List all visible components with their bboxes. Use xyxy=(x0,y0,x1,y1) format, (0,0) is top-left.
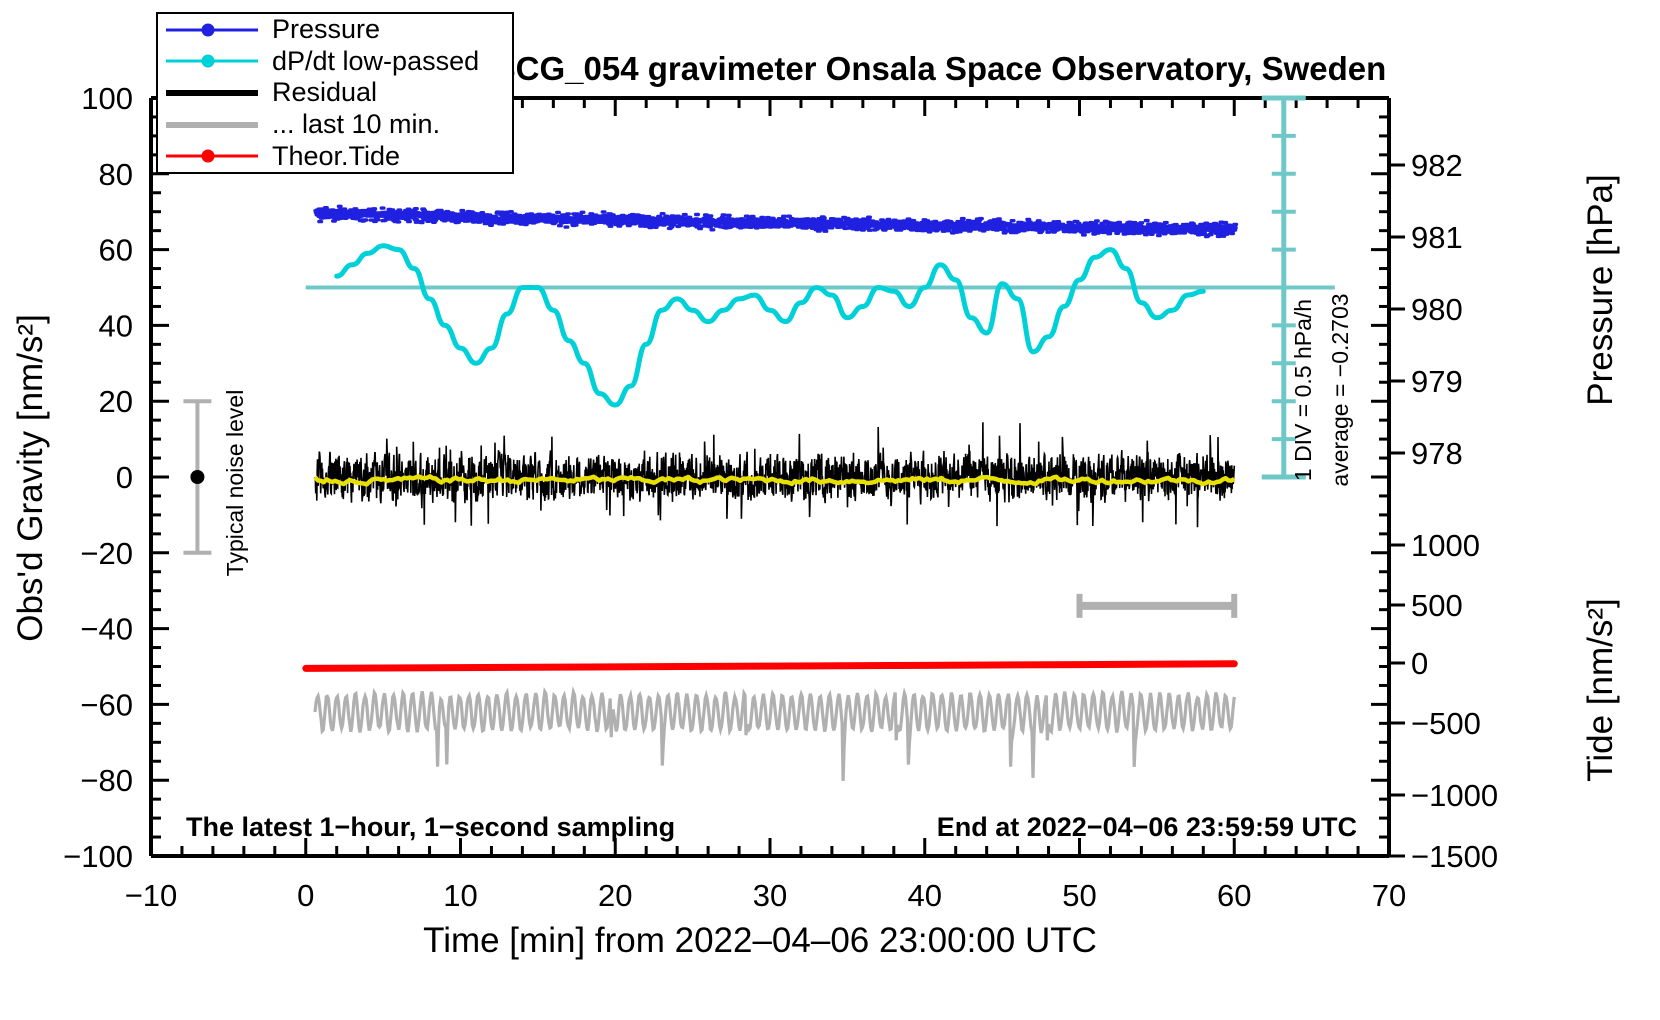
noise-level-annotation: Typical noise level xyxy=(222,390,248,577)
y-right-tide-axis-title: Tide [nm/s²] xyxy=(1581,598,1620,781)
y-left-tick-label: −60 xyxy=(80,687,133,722)
x-tick-label: 50 xyxy=(1062,878,1096,913)
noise-error-bar-center-dot xyxy=(190,470,204,484)
legend-swatch-icon xyxy=(166,22,258,38)
y-right-pressure-tick-label: 979 xyxy=(1411,364,1463,399)
y-left-tick-label: 100 xyxy=(81,81,133,116)
x-tick-label: 70 xyxy=(1372,878,1406,913)
y-right-tide-tick-label: −1500 xyxy=(1411,839,1498,874)
legend-item[interactable]: dP/dt low-passed xyxy=(158,46,512,78)
y-left-tick-label: 40 xyxy=(99,308,133,343)
legend-item-label: ... last 10 min. xyxy=(258,109,440,140)
y-right-tide-tick-label: 1000 xyxy=(1411,528,1480,563)
legend-swatch-icon xyxy=(166,53,258,69)
y-right-pressure-tick-label: 982 xyxy=(1411,148,1463,183)
y-left-tick-label: −80 xyxy=(80,763,133,798)
x-tick-label: 0 xyxy=(297,878,314,913)
y-right-pressure-tick-label: 978 xyxy=(1411,436,1463,471)
x-tick-label: 40 xyxy=(908,878,942,913)
legend-item[interactable]: Pressure xyxy=(158,14,512,46)
y-right-tide-tick-label: −1000 xyxy=(1411,778,1498,813)
legend-swatch-icon xyxy=(166,85,258,101)
legend-item-label: Theor.Tide xyxy=(258,141,400,172)
y-right-pressure-tick-label: 980 xyxy=(1411,292,1463,327)
y-left-tick-label: 80 xyxy=(99,157,133,192)
x-tick-label: 10 xyxy=(443,878,477,913)
chart-title: SCG_054 gravimeter Onsala Space Observat… xyxy=(494,50,1387,87)
y-left-tick-label: −20 xyxy=(80,536,133,571)
legend-item-label: dP/dt low-passed xyxy=(258,46,479,77)
y-left-tick-label: 20 xyxy=(99,384,133,419)
y-left-tick-label: 0 xyxy=(116,460,133,495)
x-tick-label: −10 xyxy=(125,878,178,913)
legend: PressuredP/dt low-passedResidual... last… xyxy=(156,12,514,174)
legend-item[interactable]: ... last 10 min. xyxy=(158,109,512,141)
average-annotation: average = −0.2703 xyxy=(1327,293,1353,486)
legend-item-label: Residual xyxy=(258,77,377,108)
div-scale-annotation: 1 DIV = 0.5 hPa/h xyxy=(1290,299,1316,481)
chart-root: −10010203040506070100806040200−20−40−60−… xyxy=(0,0,1660,1020)
y-left-tick-label: −40 xyxy=(80,612,133,647)
y-right-pressure-tick-label: 981 xyxy=(1411,220,1463,255)
theor-tide-series xyxy=(306,664,1235,669)
y-right-tide-tick-label: 0 xyxy=(1411,646,1428,681)
y-right-tide-tick-label: 500 xyxy=(1411,588,1463,623)
y-right-pressure-axis-title: Pressure [hPa] xyxy=(1581,174,1620,406)
y-right-tide-tick-label: −500 xyxy=(1411,706,1481,741)
legend-swatch-icon xyxy=(166,117,258,133)
footer-right-text: End at 2022−04−06 23:59:59 UTC xyxy=(937,812,1357,842)
y-left-axis-title: Obs'd Gravity [nm/s²] xyxy=(11,314,50,642)
y-left-tick-label: 60 xyxy=(99,233,133,268)
legend-item-label: Pressure xyxy=(258,14,380,45)
footer-left-text: The latest 1−hour, 1−second sampling xyxy=(186,812,675,842)
x-tick-label: 20 xyxy=(598,878,632,913)
legend-item[interactable]: Theor.Tide xyxy=(158,140,512,172)
legend-swatch-icon xyxy=(166,148,258,164)
x-axis-title: Time [min] from 2022–04–06 23:00:00 UTC xyxy=(423,921,1097,960)
y-left-tick-label: −100 xyxy=(63,839,133,874)
x-tick-label: 60 xyxy=(1217,878,1251,913)
legend-item[interactable]: Residual xyxy=(158,77,512,109)
x-tick-label: 30 xyxy=(753,878,787,913)
